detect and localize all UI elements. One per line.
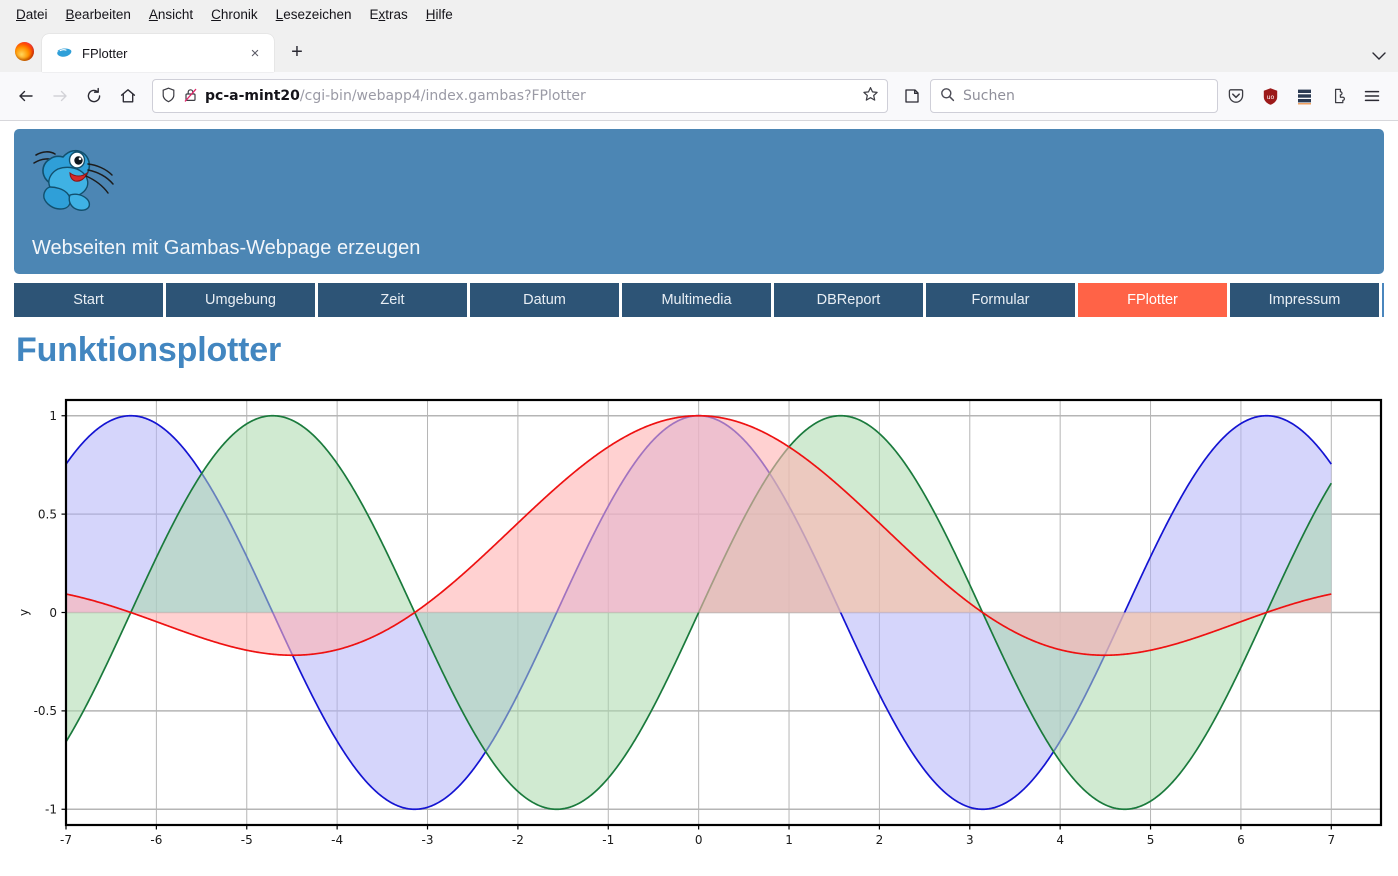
url-text: pc-a-mint20/cgi-bin/webapp4/index.gambas… [205,88,855,104]
pocket-icon[interactable] [1220,80,1252,112]
x-tick-label: 3 [966,833,974,847]
tab-strip: FPlotter × + [0,28,1398,72]
x-tick-label: 5 [1147,833,1155,847]
new-tab-button[interactable]: + [282,37,312,67]
nav-item-multimedia[interactable]: Multimedia [622,283,771,317]
nav-item-impressum[interactable]: Impressum [1230,283,1379,317]
navigation-toolbar: pc-a-mint20/cgi-bin/webapp4/index.gambas… [0,72,1398,121]
chevron-down-icon[interactable] [1372,50,1386,64]
x-tick-label: 0 [695,833,703,847]
y-tick-label: 1 [49,409,57,423]
nav-item-umgebung[interactable]: Umgebung [166,283,315,317]
nav-item-fplotter[interactable]: FPlotter [1078,283,1227,317]
x-tick-label: -6 [150,833,162,847]
browser-tab-fplotter[interactable]: FPlotter × [42,34,274,72]
gambas-favicon-icon [56,45,72,61]
svg-text:uo: uo [1266,93,1274,100]
x-tick-label: 4 [1056,833,1064,847]
tab-title: FPlotter [82,46,244,61]
nav-item-start[interactable]: Start [14,283,163,317]
extension-list-icon[interactable] [1288,80,1320,112]
search-icon [940,87,955,105]
x-tick-label: -5 [241,833,253,847]
function-plot: -7-6-5-4-3-2-101234567-1-0.500.51y [0,388,1398,858]
site-navigation: Start Umgebung Zeit Datum Multimedia DBR… [14,283,1384,317]
menu-item-extras[interactable]: Extras [362,4,416,25]
x-tick-label: 6 [1237,833,1245,847]
save-to-pocket-icon[interactable] [896,80,928,112]
menu-bar: Datei Bearbeiten Ansicht Chronik Lesezei… [0,0,1398,28]
nav-item-overflow[interactable] [1382,283,1384,317]
nav-item-zeit[interactable]: Zeit [318,283,467,317]
menu-item-chronik[interactable]: Chronik [203,4,266,25]
home-icon[interactable] [112,80,144,112]
menu-item-ansicht[interactable]: Ansicht [141,4,201,25]
gambas-shrimp-logo-icon [30,137,126,226]
site-banner: Webseiten mit Gambas-Webpage erzeugen [14,129,1384,274]
banner-title: Webseiten mit Gambas-Webpage erzeugen [32,237,420,260]
browser-window: Datei Bearbeiten Ansicht Chronik Lesezei… [0,0,1398,121]
x-tick-label: -1 [602,833,614,847]
lock-crossed-icon[interactable] [183,87,198,106]
menu-item-datei[interactable]: Datei [8,4,56,25]
y-tick-label: -1 [45,803,57,817]
x-tick-label: 2 [876,833,884,847]
x-tick-label: 7 [1327,833,1335,847]
nav-item-datum[interactable]: Datum [470,283,619,317]
plot-canvas: -7-6-5-4-3-2-101234567-1-0.500.51y [0,388,1398,858]
y-axis-label: y [17,609,31,616]
x-tick-label: -7 [60,833,72,847]
menu-item-hilfe[interactable]: Hilfe [418,4,461,25]
menu-item-bearbeiten[interactable]: Bearbeiten [58,4,139,25]
firefox-logo-icon [6,33,42,69]
nav-item-dbreport[interactable]: DBReport [774,283,923,317]
web-page-content: Webseiten mit Gambas-Webpage erzeugen St… [0,129,1398,858]
x-tick-label: -2 [512,833,524,847]
extensions-puzzle-icon[interactable] [1322,80,1354,112]
ublock-origin-icon[interactable]: uo [1254,80,1286,112]
search-input[interactable]: Suchen [963,88,1015,104]
y-tick-label: 0 [49,606,57,620]
shield-icon[interactable] [161,87,176,106]
menu-item-lesezeichen[interactable]: Lesezeichen [268,4,360,25]
x-tick-label: 1 [785,833,793,847]
y-tick-label: 0.5 [38,507,57,521]
y-tick-label: -0.5 [34,704,57,718]
nav-item-formular[interactable]: Formular [926,283,1075,317]
forward-icon[interactable] [44,80,76,112]
bookmark-star-icon[interactable] [862,86,879,106]
hamburger-menu-icon[interactable] [1356,80,1388,112]
close-icon[interactable]: × [244,42,266,64]
page-title: Funktionsplotter [16,331,1398,370]
reload-icon[interactable] [78,80,110,112]
url-bar[interactable]: pc-a-mint20/cgi-bin/webapp4/index.gambas… [152,79,888,113]
x-tick-label: -3 [422,833,434,847]
search-box[interactable]: Suchen [930,79,1218,113]
x-tick-label: -4 [331,833,343,847]
back-icon[interactable] [10,80,42,112]
